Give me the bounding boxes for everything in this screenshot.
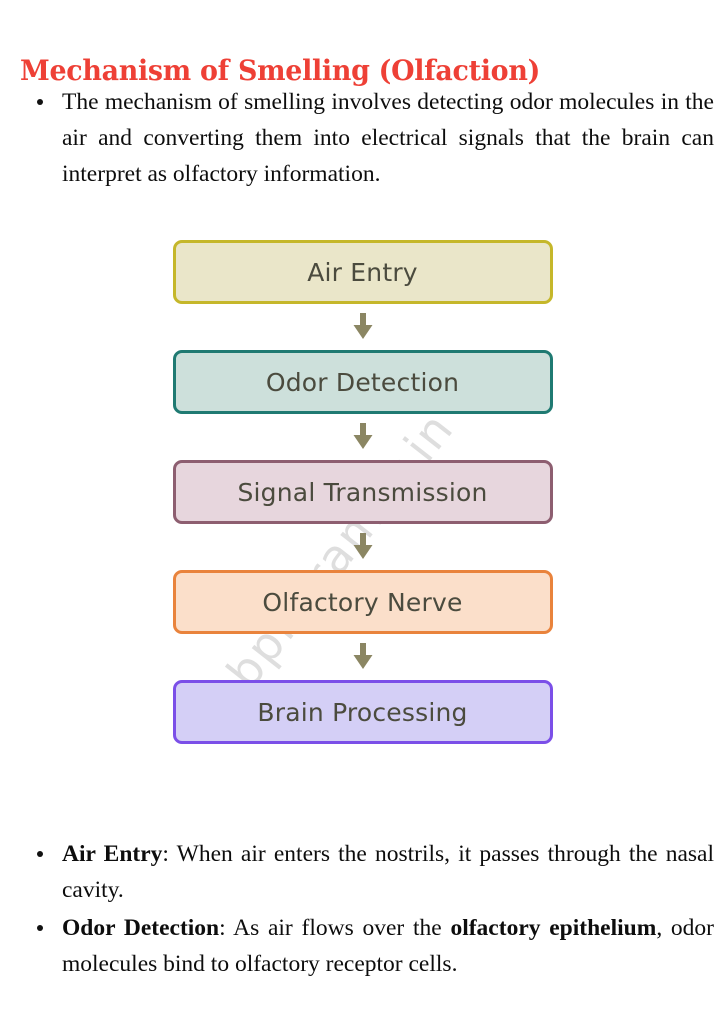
list-item: Odor Detection: As air flows over the ol… [24, 910, 714, 982]
page-title: Mechanism of Smelling (Olfaction) [20, 55, 540, 87]
flow-arrow-row [0, 414, 725, 460]
flow-arrow-row [0, 524, 725, 570]
flow-box-signal-transmission: Signal Transmission [173, 460, 553, 524]
list-item-separator: : [219, 915, 233, 941]
down-arrow-icon [350, 533, 376, 561]
flow-box-label: Odor Detection [266, 368, 459, 397]
list-item-emphasis: olfactory epithelium [450, 915, 656, 941]
list-item-term: Air Entry [62, 841, 162, 867]
document-page: bpharamcy.in Mechanism of Smelling (Olfa… [0, 0, 725, 1024]
flow-arrow-row [0, 304, 725, 350]
list-item-separator: : [162, 841, 176, 867]
flow-box-olfactory-nerve: Olfactory Nerve [173, 570, 553, 634]
flow-arrow-row [0, 634, 725, 680]
flow-box-label: Signal Transmission [237, 478, 487, 507]
flow-step-row: Air Entry [0, 240, 725, 304]
list-item-text: As air flows over the [233, 915, 450, 941]
flow-box-label: Brain Processing [257, 698, 467, 727]
olfaction-flowchart: Air Entry Odor Detection Signal Transmis… [0, 240, 725, 744]
flow-step-row: Odor Detection [0, 350, 725, 414]
list-item: The mechanism of smelling involves detec… [24, 84, 714, 192]
flow-step-row: Brain Processing [0, 680, 725, 744]
flow-box-label: Olfactory Nerve [262, 588, 462, 617]
flow-box-odor-detection: Odor Detection [173, 350, 553, 414]
flow-box-brain-processing: Brain Processing [173, 680, 553, 744]
flow-box-air-entry: Air Entry [173, 240, 553, 304]
list-item: Air Entry: When air enters the nostrils,… [24, 836, 714, 908]
flow-step-row: Olfactory Nerve [0, 570, 725, 634]
details-bullet-list: Air Entry: When air enters the nostrils,… [24, 836, 714, 984]
down-arrow-icon [350, 643, 376, 671]
down-arrow-icon [350, 313, 376, 341]
flow-box-label: Air Entry [307, 258, 418, 287]
down-arrow-icon [350, 423, 376, 451]
list-item-term: Odor Detection [62, 915, 219, 941]
intro-bullet-list: The mechanism of smelling involves detec… [24, 84, 714, 194]
flow-step-row: Signal Transmission [0, 460, 725, 524]
